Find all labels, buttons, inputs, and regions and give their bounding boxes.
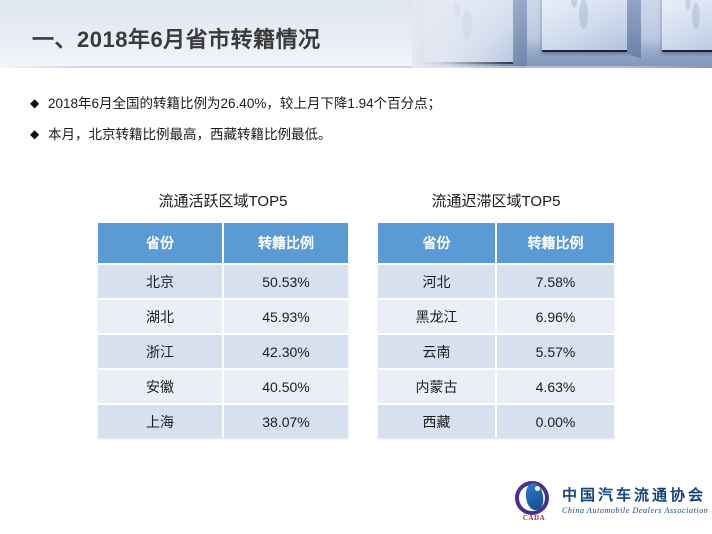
cell-province: 安徽 [98, 369, 223, 404]
cell-province: 西藏 [378, 404, 496, 438]
list-item: ◆ 2018年6月全国的转籍比例为26.40%，较上月下降1.94个百分点； [30, 94, 650, 113]
decorative-cube-icon [662, 0, 712, 52]
bullet-text: 本月，北京转籍比例最高，西藏转籍比例最低。 [48, 125, 650, 144]
table-row: 北京 50.53% [98, 264, 348, 299]
cell-province: 北京 [98, 264, 223, 299]
diamond-bullet-icon: ◆ [30, 125, 48, 144]
cell-ratio: 7.58% [496, 264, 614, 299]
logo-abbr: CADA [514, 514, 554, 522]
column-header-province: 省份 [98, 223, 223, 264]
cell-ratio: 45.93% [223, 299, 348, 334]
world-map-texture-icon [556, 0, 609, 48]
cell-ratio: 40.50% [223, 369, 348, 404]
logo-name-cn: 中国汽车流通协会 [562, 487, 708, 505]
header-decoration-cubes [412, 0, 712, 68]
cada-logo: CADA 中国汽车流通协会 China Automobile Dealers A… [513, 478, 703, 524]
cell-ratio: 42.30% [223, 334, 348, 369]
cell-ratio: 0.00% [496, 404, 614, 438]
header-art-fade [412, 0, 522, 68]
bullet-text: 2018年6月全国的转籍比例为26.40%，较上月下降1.94个百分点； [48, 94, 650, 113]
column-header-province: 省份 [378, 223, 496, 264]
cell-ratio: 5.57% [496, 334, 614, 369]
table-row: 黑龙江 6.96% [378, 299, 614, 334]
logo-name-en: China Automobile Dealers Association [562, 505, 708, 516]
cell-ratio: 6.96% [496, 299, 614, 334]
table-caption-lagging-regions: 流通迟滞区域TOP5 [378, 190, 614, 211]
cada-emblem-icon: CADA [513, 480, 555, 522]
slide: 一、2018年6月省市转籍情况 ◆ 2018年6月全国的转籍比例为26.40%，… [0, 0, 712, 534]
column-header-ratio: 转籍比例 [496, 223, 614, 264]
active-regions-table: 省份 转籍比例 北京 50.53% 湖北 45.93% 浙江 42.30% [98, 223, 348, 438]
active-regions-table-block: 流通活跃区域TOP5 省份 转籍比例 北京 50.53% 湖北 45.93% 浙… [98, 190, 348, 438]
lagging-regions-table-block: 流通迟滞区域TOP5 省份 转籍比例 河北 7.58% 黑龙江 6.96% 云南 [378, 190, 614, 438]
decorative-cube-icon [542, 0, 628, 52]
cell-province: 上海 [98, 404, 223, 438]
lagging-regions-table: 省份 转籍比例 河北 7.58% 黑龙江 6.96% 云南 5.57% [378, 223, 614, 438]
summary-bullet-list: ◆ 2018年6月全国的转籍比例为26.40%，较上月下降1.94个百分点； ◆… [30, 94, 650, 156]
cell-province: 湖北 [98, 299, 223, 334]
cell-ratio: 4.63% [496, 369, 614, 404]
diamond-bullet-icon: ◆ [30, 94, 48, 113]
cell-province: 内蒙古 [378, 369, 496, 404]
table-header-row: 省份 转籍比例 [378, 223, 614, 264]
cell-province: 云南 [378, 334, 496, 369]
table-caption-active-regions: 流通活跃区域TOP5 [98, 190, 348, 211]
table-row: 河北 7.58% [378, 264, 614, 299]
cell-ratio: 38.07% [223, 404, 348, 438]
column-header-ratio: 转籍比例 [223, 223, 348, 264]
table-row: 上海 38.07% [98, 404, 348, 438]
page-title: 一、2018年6月省市转籍情况 [32, 22, 321, 54]
cube-side-face [627, 0, 641, 59]
cell-province: 浙江 [98, 334, 223, 369]
table-header-row: 省份 转籍比例 [98, 223, 348, 264]
emblem-dot-icon [535, 486, 540, 491]
table-row: 浙江 42.30% [98, 334, 348, 369]
table-row: 安徽 40.50% [98, 369, 348, 404]
table-row: 西藏 0.00% [378, 404, 614, 438]
table-row: 内蒙古 4.63% [378, 369, 614, 404]
table-row: 云南 5.57% [378, 334, 614, 369]
table-row: 湖北 45.93% [98, 299, 348, 334]
list-item: ◆ 本月，北京转籍比例最高，西藏转籍比例最低。 [30, 125, 650, 144]
logo-wordmark: 中国汽车流通协会 China Automobile Dealers Associ… [562, 487, 708, 516]
cell-province: 河北 [378, 264, 496, 299]
cell-province: 黑龙江 [378, 299, 496, 334]
cell-ratio: 50.53% [223, 264, 348, 299]
world-map-texture-icon [673, 0, 712, 48]
